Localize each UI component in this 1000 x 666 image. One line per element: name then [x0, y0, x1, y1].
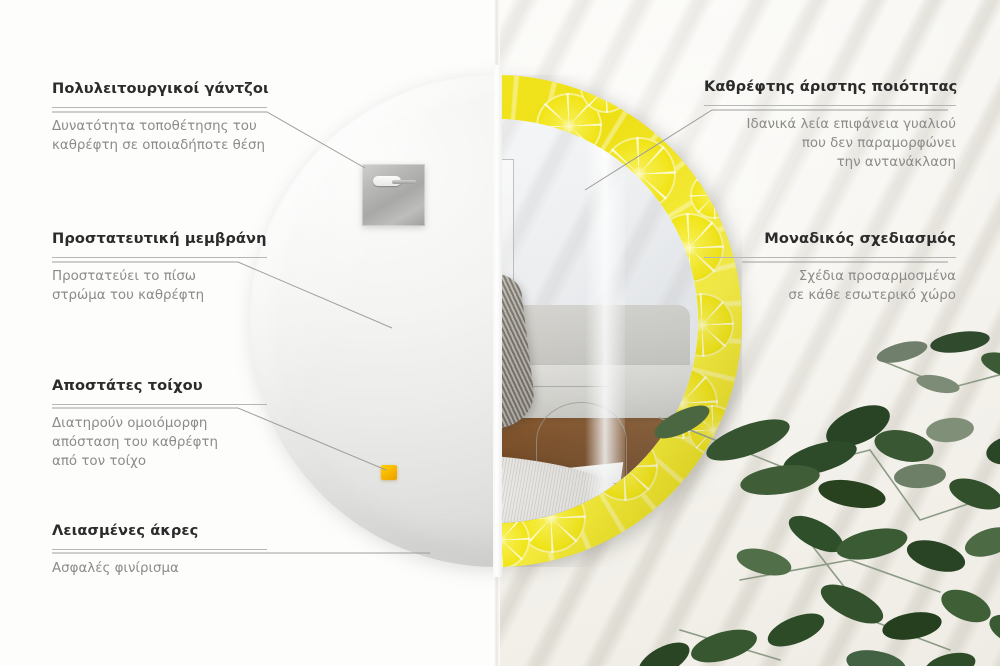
callout-design: Μοναδικός σχεδιασμός Σχέδια προσαρμοσμέν…	[704, 230, 956, 305]
callout-smooth-edges-line-1: Ασφαλές φινίρισμα	[52, 561, 179, 576]
hook-slot-track	[392, 180, 416, 184]
callout-hooks-rule	[52, 107, 267, 108]
callout-design-line-2: σε κάθε εσωτερικό χώρο	[788, 288, 956, 303]
callout-spacers-line-2: απόσταση του καθρέφτη	[52, 435, 218, 450]
wall-spacer	[381, 465, 397, 480]
callout-spacers-line-3: από τον τοίχο	[52, 454, 146, 469]
callout-design-title: Μοναδικός σχεδιασμός	[704, 230, 956, 248]
callout-spacers-body: Διατηρούν ομοιόμορφη απόσταση του καθρέφ…	[52, 414, 267, 471]
callout-quality-line-3: την αντανάκλαση	[837, 155, 956, 170]
callout-quality-line-1: Ιδανικά λεία επιφάνεια γυαλιού	[747, 117, 956, 132]
callout-spacers-rule	[52, 404, 267, 405]
callout-design-line-1: Σχέδια προσαρμοσμένα	[799, 269, 956, 284]
callout-quality: Καθρέφτης άριστης ποιότητας Ιδανικά λεία…	[704, 78, 956, 172]
callout-hooks-line-2: καθρέφτη σε οποιαδήποτε θέση	[52, 138, 265, 153]
callout-spacers-title: Αποστάτες τοίχου	[52, 377, 267, 395]
mirror-center-split	[493, 65, 502, 577]
mirror-product	[250, 75, 742, 567]
multifunctional-hook-plate	[362, 164, 425, 226]
callout-hooks-title: Πολυλειτουργικοί γάντζοι	[52, 80, 267, 98]
callout-smooth-edges-title: Λειασμένες άκρες	[52, 522, 267, 540]
callout-membrane-rule	[52, 257, 267, 258]
callout-quality-body: Ιδανικά λεία επιφάνεια γυαλιού που δεν π…	[704, 115, 956, 172]
callout-membrane-body: Προστατεύει το πίσω στρώμα του καθρέφτη	[52, 267, 267, 305]
callout-smooth-edges-body: Ασφαλές φινίρισμα	[52, 559, 267, 578]
callout-quality-title: Καθρέφτης άριστης ποιότητας	[704, 78, 956, 96]
callout-hooks: Πολυλειτουργικοί γάντζοι Δυνατότητα τοπο…	[52, 80, 267, 155]
callout-membrane-line-2: στρώμα του καθρέφτη	[52, 288, 204, 303]
callout-membrane: Προστατευτική μεμβράνη Προστατεύει το πί…	[52, 230, 267, 305]
callout-spacers-line-1: Διατηρούν ομοιόμορφη	[52, 416, 207, 431]
callout-spacers: Αποστάτες τοίχου Διατηρούν ομοιόμορφη απ…	[52, 377, 267, 471]
callout-smooth-edges-rule	[52, 549, 267, 550]
callout-smooth-edges: Λειασμένες άκρες Ασφαλές φινίρισμα	[52, 522, 267, 578]
callout-design-rule	[704, 257, 956, 258]
callout-design-body: Σχέδια προσαρμοσμένα σε κάθε εσωτερικό χ…	[704, 267, 956, 305]
infographic-canvas: Πολυλειτουργικοί γάντζοι Δυνατότητα τοπο…	[0, 0, 1000, 666]
callout-membrane-title: Προστατευτική μεμβράνη	[52, 230, 267, 248]
callout-hooks-line-1: Δυνατότητα τοποθέτησης του	[52, 119, 257, 134]
reflected-wall-highlight	[585, 119, 625, 523]
callout-quality-line-2: που δεν παραμορφώνει	[802, 136, 956, 151]
callout-quality-rule	[704, 105, 956, 106]
callout-hooks-body: Δυνατότητα τοποθέτησης του καθρέφτη σε ο…	[52, 117, 267, 155]
callout-membrane-line-1: Προστατεύει το πίσω	[52, 269, 196, 284]
